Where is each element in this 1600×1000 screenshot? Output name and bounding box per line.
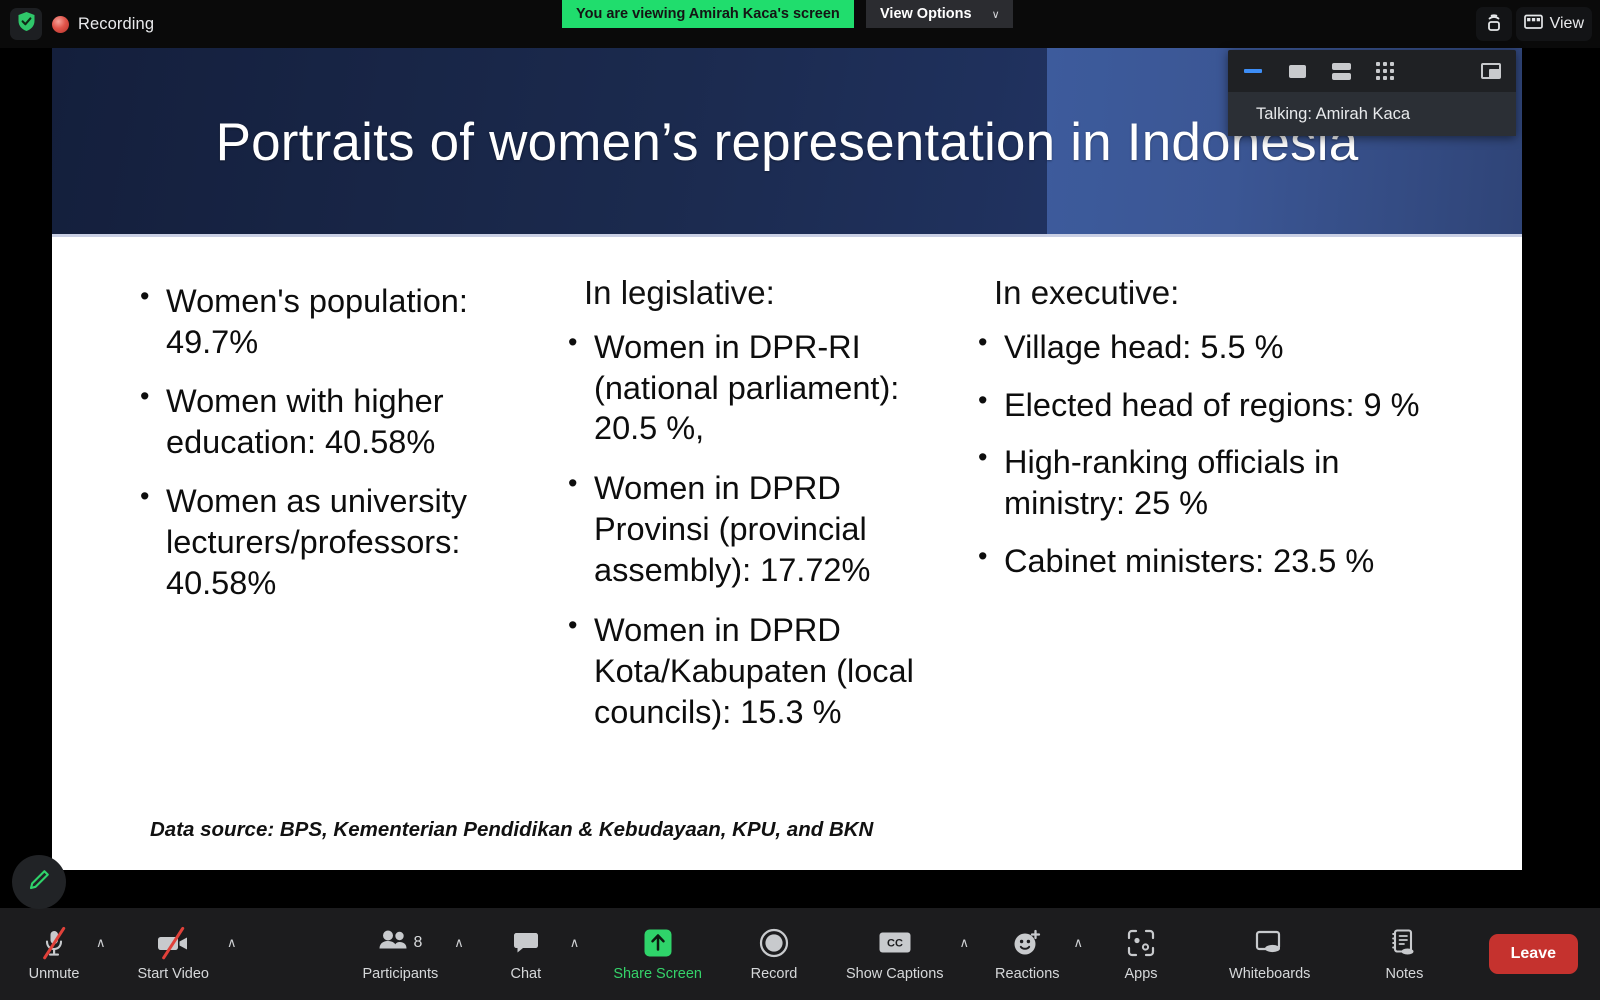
participants-button[interactable]: 8 Participants <box>363 908 439 1000</box>
pop-out-button[interactable] <box>1478 58 1504 84</box>
slide-columns: Women's population: 49.7% Women with hig… <box>72 273 1502 752</box>
apps-label: Apps <box>1125 966 1158 982</box>
meeting-toolbar: Unmute ∧ Start Video ∧ <box>0 908 1600 1000</box>
unmute-label: Unmute <box>29 966 80 982</box>
top-bar: Recording You are viewing Amirah Kaca's … <box>0 0 1600 48</box>
bullet-list: Women in DPR-RI (national parliament): 2… <box>562 327 932 733</box>
annotate-button[interactable] <box>12 855 66 909</box>
connection-status-icon <box>1484 11 1504 37</box>
active-speaker-label: Talking: Amirah Kaca <box>1228 92 1516 136</box>
screen-share-banner: You are viewing Amirah Kaca's screen <box>562 0 854 28</box>
security-shield-button[interactable] <box>10 8 42 40</box>
share-screen-label: Share Screen <box>613 966 702 982</box>
slide-column-legislative: In legislative: Women in DPR-RI (nationa… <box>512 273 932 752</box>
data-source-note: Data source: BPS, Kementerian Pendidikan… <box>52 818 1522 870</box>
reactions-smiley-icon <box>1012 927 1042 959</box>
svg-text:CC: CC <box>887 938 903 950</box>
bullet-list: Village head: 5.5 % Elected head of regi… <box>972 327 1432 583</box>
record-label: Record <box>751 966 798 982</box>
list-item: Women in DPRD Provinsi (provincial assem… <box>562 468 932 591</box>
start-video-label: Start Video <box>138 966 209 982</box>
column-heading: In executive: <box>972 273 1432 313</box>
whiteboards-button[interactable]: Whiteboards <box>1229 908 1310 1000</box>
slide-column-population: Women's population: 49.7% Women with hig… <box>72 273 512 622</box>
gallery-view-icon <box>1524 13 1543 35</box>
start-video-button[interactable]: Start Video <box>138 908 209 1000</box>
notes-label: Notes <box>1385 966 1423 982</box>
speaker-view-icon <box>1289 65 1306 78</box>
recording-dot-icon <box>52 16 69 33</box>
security-shield-check-icon <box>17 11 36 37</box>
recording-label: Recording <box>78 15 154 34</box>
list-item: Village head: 5.5 % <box>972 327 1432 368</box>
list-item: Women with higher education: 40.58% <box>134 381 512 463</box>
view-label: View <box>1550 15 1584 33</box>
share-screen-up-arrow-icon <box>643 927 673 959</box>
apps-icon <box>1127 927 1155 959</box>
audio-options-caret[interactable]: ∧ <box>96 908 106 1000</box>
shared-screen-slide: Portraits of women’s representation in I… <box>52 48 1522 870</box>
chat-button[interactable]: Chat <box>498 908 554 1000</box>
record-button[interactable]: Record <box>746 908 802 1000</box>
whiteboards-label: Whiteboards <box>1229 966 1310 982</box>
participants-label: Participants <box>363 966 439 982</box>
unmute-button[interactable]: Unmute <box>26 908 82 1000</box>
notes-button[interactable]: Notes <box>1376 908 1432 1000</box>
zoom-meeting-window: Recording You are viewing Amirah Kaca's … <box>0 0 1600 1000</box>
record-circle-icon <box>759 927 789 959</box>
share-screen-button[interactable]: Share Screen <box>613 908 702 1000</box>
reactions-options-caret[interactable]: ∧ <box>1074 908 1084 1000</box>
floating-controls-row <box>1228 50 1516 92</box>
participants-icon <box>378 929 408 956</box>
split-view-button[interactable] <box>1328 58 1354 84</box>
slide-column-executive: In executive: Village head: 5.5 % Electe… <box>932 273 1432 599</box>
closed-captions-icon: CC <box>879 927 911 959</box>
gallery-grid-icon <box>1376 62 1394 80</box>
participants-options-caret[interactable]: ∧ <box>454 908 464 1000</box>
list-item: Women in DPR-RI (national parliament): 2… <box>562 327 932 450</box>
recording-indicator[interactable]: Recording <box>52 0 154 48</box>
list-item: Women as university lecturers/professors… <box>134 481 512 604</box>
reactions-label: Reactions <box>995 966 1059 982</box>
pencil-annotate-icon <box>26 867 52 898</box>
video-options-caret[interactable]: ∧ <box>227 908 237 1000</box>
top-right-controls: View <box>1476 7 1592 41</box>
chat-bubble-icon <box>512 927 540 959</box>
connection-status-button[interactable] <box>1476 7 1512 41</box>
list-item: Elected head of regions: 9 % <box>972 385 1432 426</box>
apps-button[interactable]: Apps <box>1113 908 1169 1000</box>
column-heading: In legislative: <box>562 273 932 313</box>
leave-button-wrap: Leave <box>1489 934 1578 974</box>
minimize-button[interactable] <box>1240 58 1266 84</box>
camera-off-icon <box>156 927 190 959</box>
show-captions-button[interactable]: CC Show Captions <box>846 908 944 1000</box>
gallery-view-button[interactable] <box>1372 58 1398 84</box>
whiteboard-icon <box>1255 927 1285 959</box>
bullet-list: Women's population: 49.7% Women with hig… <box>134 281 512 604</box>
pop-out-window-icon <box>1481 63 1501 79</box>
list-item: Women in DPRD Kota/Kabupaten (local coun… <box>562 610 932 733</box>
reactions-button[interactable]: Reactions <box>995 908 1059 1000</box>
slide-body: Women's population: 49.7% Women with hig… <box>52 237 1522 870</box>
chevron-down-icon: ∨ <box>992 8 1000 21</box>
split-view-icon <box>1332 63 1351 80</box>
participants-icon-group: 8 <box>378 927 422 959</box>
notes-icon <box>1391 927 1417 959</box>
floating-meeting-controls: Talking: Amirah Kaca <box>1228 50 1516 136</box>
view-layout-button[interactable]: View <box>1516 7 1592 41</box>
participants-count: 8 <box>413 934 422 952</box>
chat-options-caret[interactable]: ∧ <box>570 908 580 1000</box>
microphone-muted-icon <box>41 927 67 959</box>
show-captions-label: Show Captions <box>846 966 944 982</box>
view-options-label: View Options <box>880 6 972 22</box>
minimize-icon <box>1244 69 1262 73</box>
list-item: High-ranking officials in ministry: 25 % <box>972 442 1432 524</box>
captions-options-caret[interactable]: ∧ <box>960 908 970 1000</box>
view-options-button[interactable]: View Options ∨ <box>866 0 1013 28</box>
chat-label: Chat <box>510 966 541 982</box>
speaker-view-button[interactable] <box>1284 58 1310 84</box>
list-item: Cabinet ministers: 23.5 % <box>972 541 1432 582</box>
leave-button[interactable]: Leave <box>1489 934 1578 974</box>
list-item: Women's population: 49.7% <box>134 281 512 363</box>
